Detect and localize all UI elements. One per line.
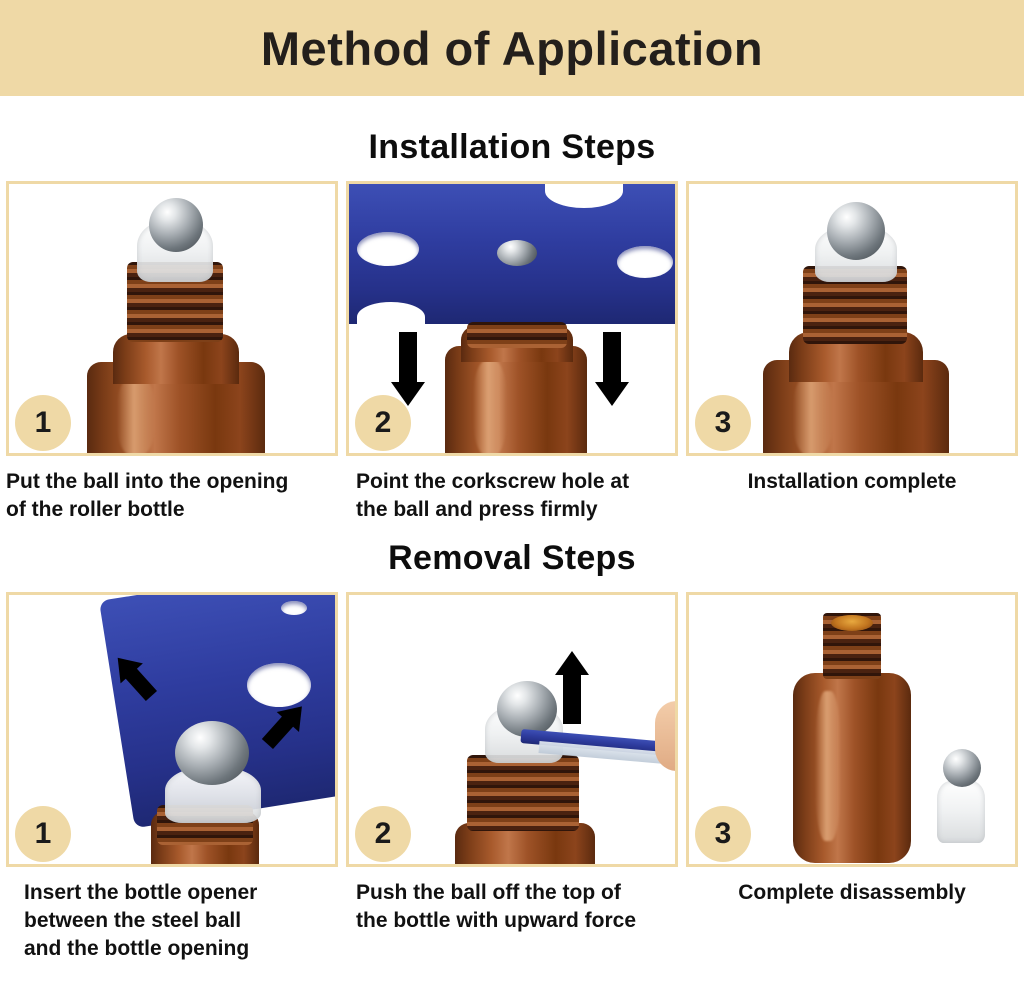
steel-ball-in-hole-icon	[497, 240, 537, 266]
step-caption-install-1: Put the ball into the opening of the rol…	[6, 468, 338, 523]
tool-hole-right-icon	[617, 246, 673, 278]
step-image-install-3: 3	[686, 181, 1018, 456]
step-cell-install-2: 2 Point the corkscrew hole at the ball a…	[346, 181, 678, 523]
step-badge: 1	[15, 395, 71, 451]
steel-ball-icon	[149, 198, 203, 252]
steel-ball-icon	[827, 202, 885, 260]
step-cell-removal-1: 1 Insert the bottle opener between the s…	[6, 592, 338, 962]
step-cell-removal-3: 3 Complete disassembly	[686, 592, 1018, 962]
page-title: Method of Application	[261, 21, 763, 76]
bottle-highlight-icon	[117, 376, 155, 456]
step-image-removal-3: 3	[686, 592, 1018, 867]
steel-ball-icon	[175, 721, 249, 785]
step-badge: 3	[695, 395, 751, 451]
plastic-fitment-icon	[937, 781, 985, 843]
step-image-removal-1: 1	[6, 592, 338, 867]
bottle-threads-icon	[467, 755, 579, 831]
step-badge: 2	[355, 395, 411, 451]
step-cell-install-3: 3 Installation complete	[686, 181, 1018, 523]
step-cell-install-1: 1 Put the ball into the opening of the r…	[6, 181, 338, 523]
section-heading-removal: Removal Steps	[0, 539, 1024, 578]
hand-icon	[655, 701, 678, 771]
section-heading-installation: Installation Steps	[0, 128, 1024, 167]
step-caption-removal-1: Insert the bottle opener between the ste…	[6, 879, 338, 962]
step-caption-removal-2: Push the ball off the top of the bottle …	[346, 879, 678, 934]
header-banner: Method of Application	[0, 0, 1024, 96]
tool-hole-left-icon	[357, 232, 419, 266]
bottle-body-icon	[793, 673, 911, 863]
bottle-highlight-icon	[815, 691, 841, 841]
step-image-install-1: 1	[6, 181, 338, 456]
bottle-highlight-icon	[793, 374, 833, 456]
tool-bottom-notch-icon	[357, 302, 425, 332]
step-image-removal-2: 2	[346, 592, 678, 867]
step-caption-install-3: Installation complete	[686, 468, 1018, 496]
step-caption-install-2: Point the corkscrew hole at the ball and…	[346, 468, 678, 523]
step-image-install-2: 2	[346, 181, 678, 456]
bottle-threads-icon	[467, 322, 567, 348]
removal-steps-row: 1 Insert the bottle opener between the s…	[0, 592, 1024, 962]
step-caption-removal-3: Complete disassembly	[686, 879, 1018, 907]
installation-steps-row: 1 Put the ball into the opening of the r…	[0, 181, 1024, 523]
bottle-body-icon	[445, 346, 587, 456]
bottle-highlight-icon	[473, 360, 507, 456]
step-cell-removal-2: 2 Push the ball off the top of the bottl…	[346, 592, 678, 962]
